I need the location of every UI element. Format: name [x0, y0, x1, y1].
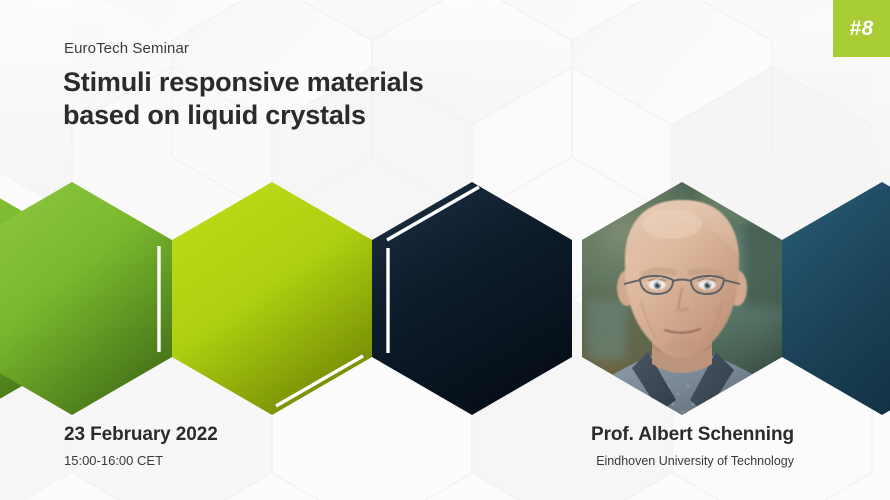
speaker-info: Prof. Albert Schenning Eindhoven Univers…: [591, 424, 794, 468]
seminar-kicker: EuroTech Seminar: [64, 40, 189, 57]
speaker-affiliation: Eindhoven University of Technology: [591, 454, 794, 468]
episode-number-badge: #8: [833, 0, 890, 57]
hexagon-lime: [172, 182, 379, 415]
hexagon-navy: [372, 182, 572, 415]
event-time: 15:00-16:00 CET: [64, 453, 218, 468]
hexagon-portrait: [582, 182, 786, 418]
episode-number-label: #8: [849, 17, 873, 41]
speaker-name: Prof. Albert Schenning: [591, 424, 794, 446]
hexagon-teal: [782, 182, 890, 415]
page-title: Stimuli responsive materials based on li…: [63, 66, 424, 133]
hexagon-green-2: [0, 182, 172, 415]
banner-canvas: EuroTech Seminar Stimuli responsive mate…: [0, 0, 890, 500]
event-datetime: 23 February 2022 15:00-16:00 CET: [64, 424, 218, 468]
event-date: 23 February 2022: [64, 424, 218, 446]
